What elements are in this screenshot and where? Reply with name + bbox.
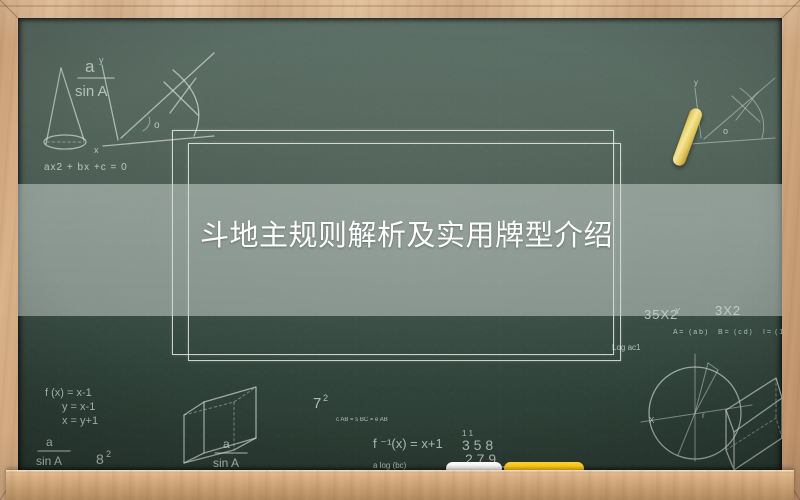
chalk-fraction-a-sin-a-center: a sin A (213, 437, 247, 470)
chalk-angle-diagram-right: y o (690, 78, 775, 144)
chalk-eight-squared: 8 2 (96, 449, 111, 467)
svg-text:sin A: sin A (75, 83, 108, 100)
chalk-circle-diagram: Y X r (641, 307, 752, 461)
svg-text:a: a (223, 437, 230, 451)
svg-text:x: x (94, 145, 99, 155)
svg-text:8: 8 (96, 451, 104, 467)
svg-text:2: 2 (323, 393, 328, 403)
chalk-fraction-a-sin-a-left: a sin A (36, 435, 70, 468)
svg-text:a: a (46, 435, 53, 449)
svg-text:( a b ): ( a b ) (689, 329, 707, 336)
svg-text:r: r (702, 411, 705, 420)
svg-text:x = y+1: x = y+1 (62, 415, 98, 427)
svg-text:sin A: sin A (213, 456, 239, 470)
svg-text:( 1 ): ( 1 ) (775, 329, 782, 336)
chalk-matrix-row: A = ( a b ) B = ( c d ) I = ( 1 ) (673, 329, 782, 336)
svg-text:B =: B = (718, 329, 729, 336)
chalk-cone (44, 68, 86, 149)
svg-text:f (x) = x-1: f (x) = x-1 (45, 387, 92, 399)
svg-text:sin A: sin A (36, 454, 62, 468)
svg-text:( c d ): ( c d ) (734, 329, 752, 336)
svg-text:A =: A = (673, 329, 683, 336)
chalk-stick-yellow-top (671, 107, 704, 168)
chalk-function-lines: f (x) = x-1 y = x-1 x = y+1 (45, 387, 98, 427)
svg-text:a: a (85, 57, 95, 76)
chalk-cube-left (184, 387, 256, 463)
chalk-small-equation: c AB = s BC = e AB (336, 417, 388, 423)
svg-text:y = x-1: y = x-1 (62, 401, 95, 413)
svg-text:I =: I = (763, 329, 771, 336)
chalk-tray (6, 470, 794, 500)
tray-grain-texture (6, 470, 794, 500)
svg-text:o: o (723, 126, 728, 136)
svg-text:3 5 8: 3 5 8 (462, 437, 493, 453)
svg-text:X: X (649, 416, 655, 425)
svg-text:o: o (154, 120, 160, 131)
chalk-fraction-a-sin-a-top: a sin A (75, 57, 114, 100)
svg-text:y: y (694, 78, 698, 87)
svg-text:2: 2 (106, 449, 111, 459)
svg-text:7: 7 (313, 395, 321, 412)
chalk-inverse-function: f ⁻¹(x) = x+1 (373, 436, 443, 451)
blackboard-poster: a sin A y x o ax2 + bx +c = 0 y (0, 0, 800, 500)
chalk-alog-label: a log (bc) (373, 461, 407, 470)
svg-text:1 1: 1 1 (462, 429, 474, 438)
blackboard-surface: a sin A y x o ax2 + bx +c = 0 y (18, 18, 782, 472)
page-title: 斗地主规则解析及实用牌型介绍 (200, 219, 720, 253)
chalk-seven-squared: 7 2 (313, 393, 328, 412)
chalk-quadratic-equation: ax2 + bx +c = 0 (44, 162, 128, 173)
svg-text:y: y (99, 55, 104, 65)
chalk-cube-right (726, 378, 782, 470)
